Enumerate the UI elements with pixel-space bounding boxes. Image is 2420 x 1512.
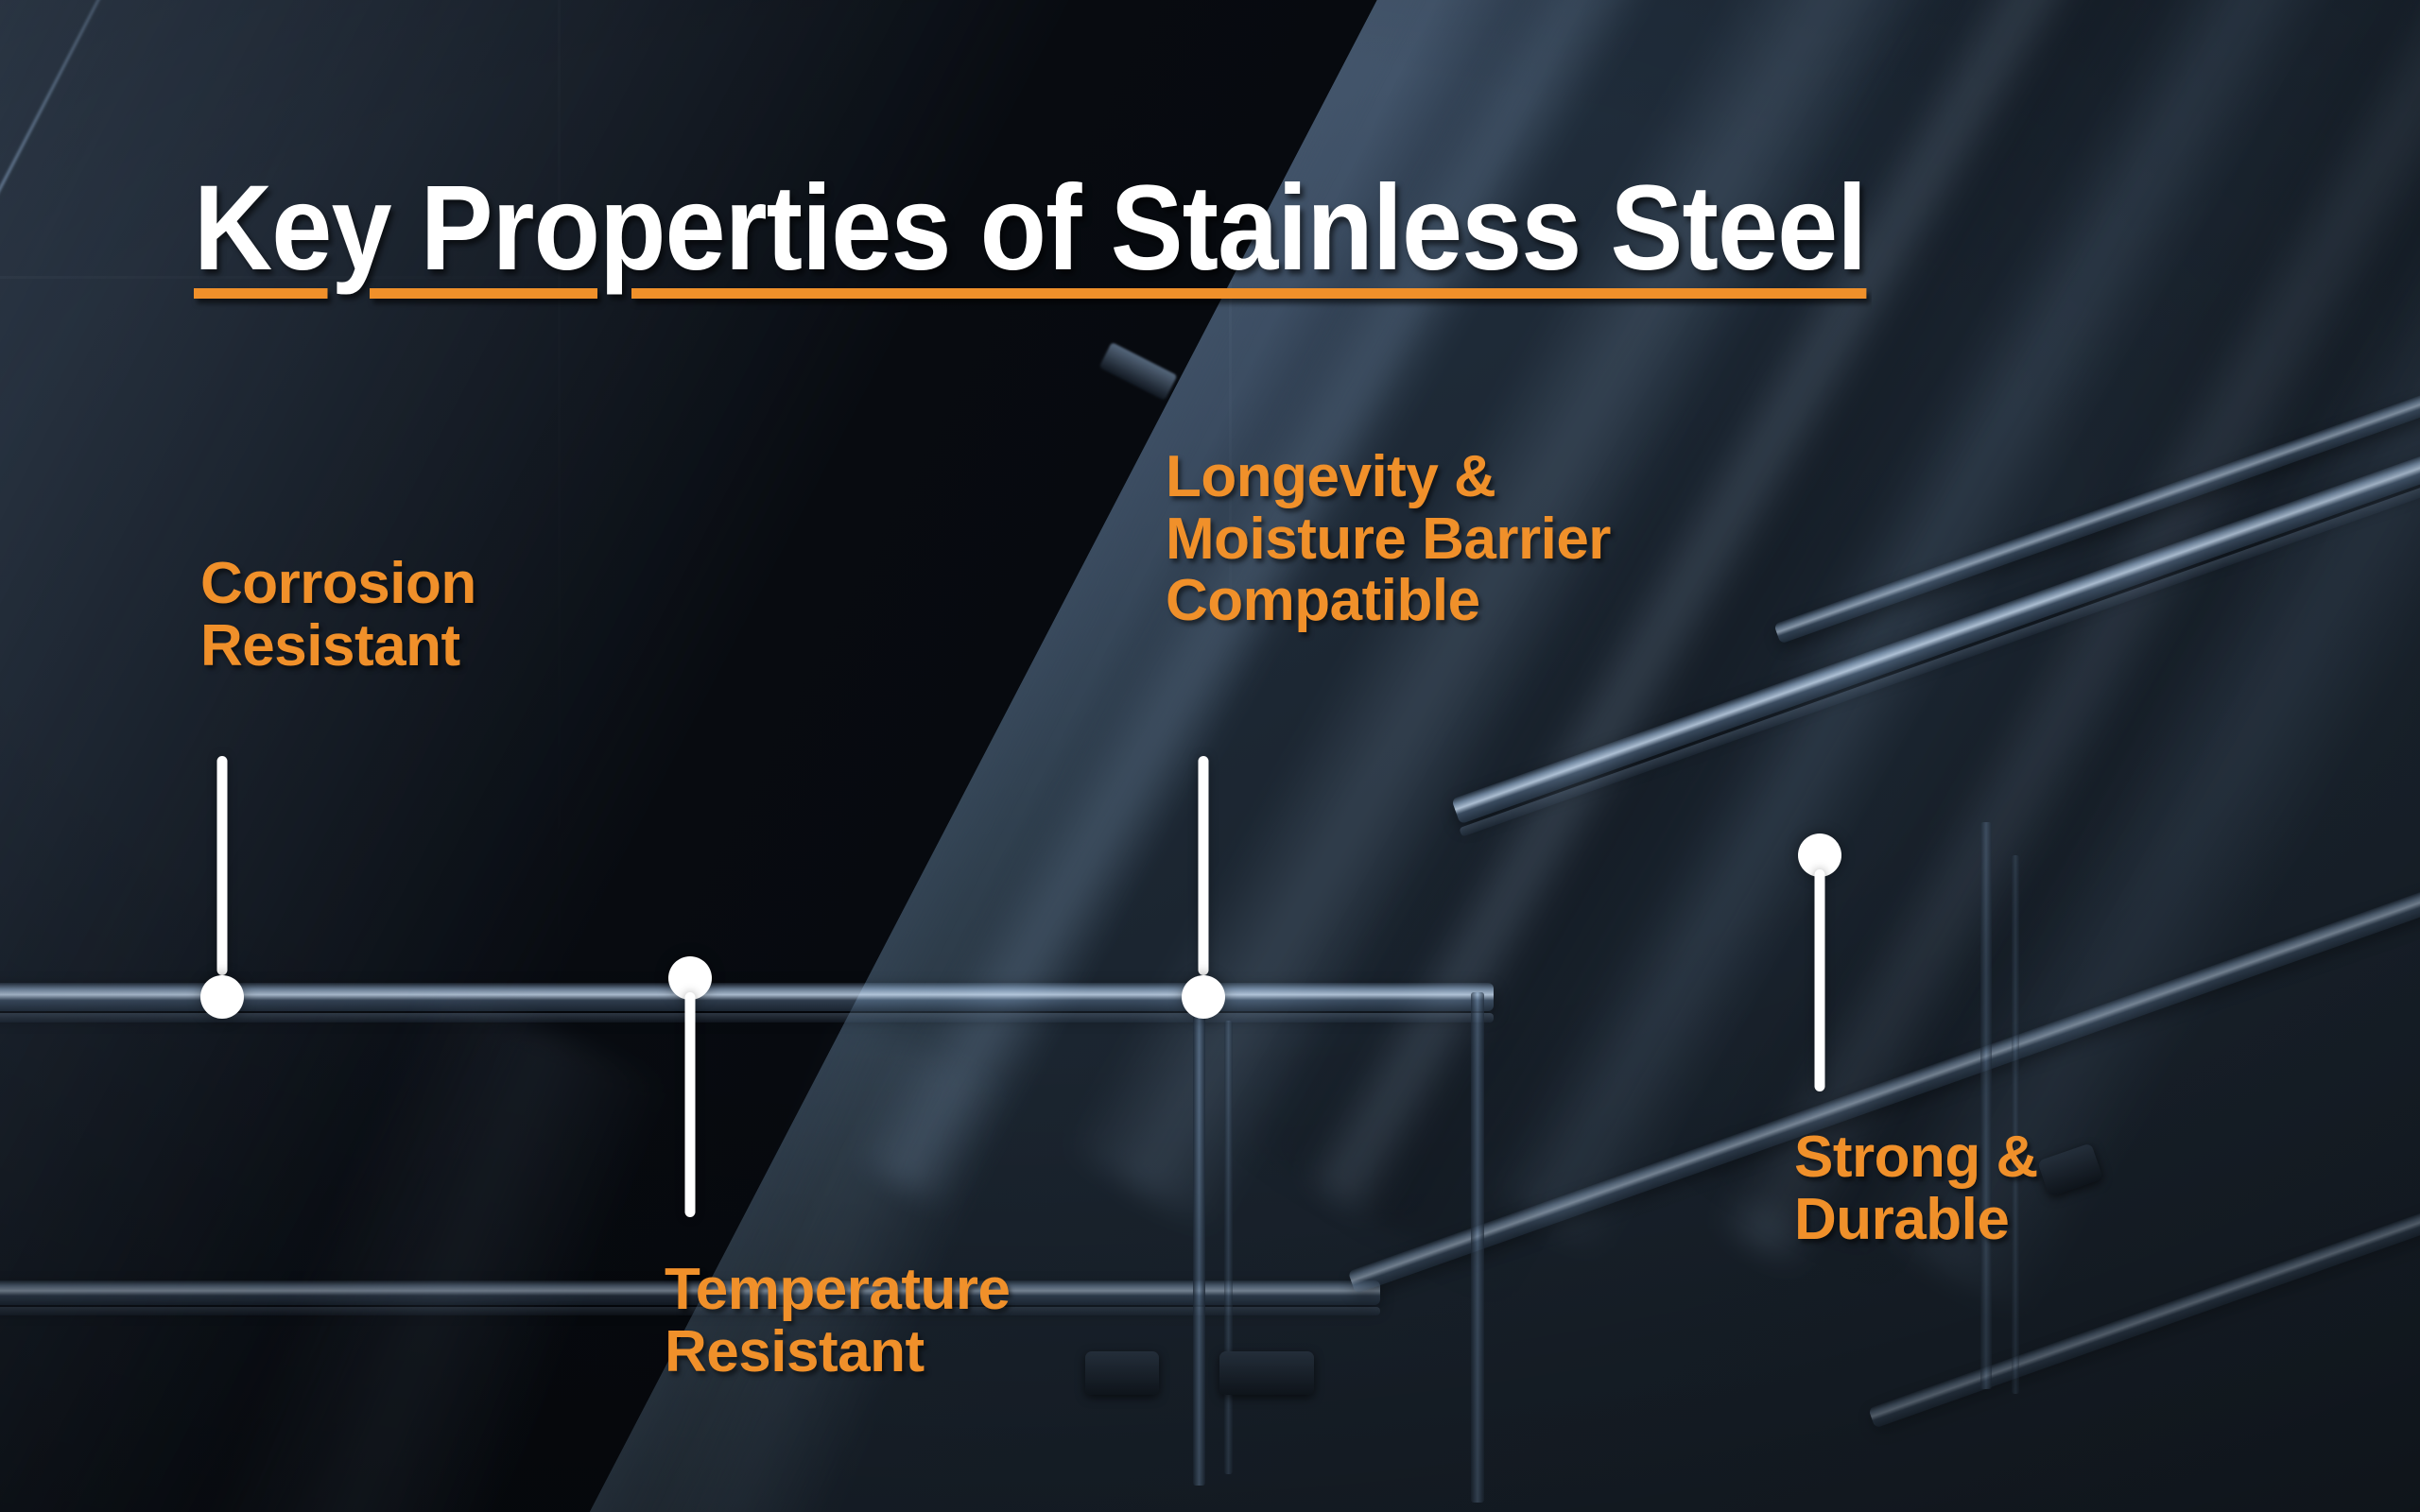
marker-stem (1815, 869, 1825, 1091)
marker-dot (200, 975, 244, 1019)
marker-stem (685, 992, 696, 1217)
callout-label-corrosion-resistant: Corrosion Resistant (200, 553, 476, 677)
marker-dot (1182, 975, 1225, 1019)
callout-label-strong-durable: Strong & Durable (1794, 1126, 2038, 1250)
infographic-canvas: Key Properties of Stainless Steel Corros… (0, 0, 2420, 1512)
page-title: Key Properties of Stainless Steel (194, 168, 1866, 289)
marker-stem (1199, 756, 1209, 975)
callout-label-longevity-moisture-barrier-compatible: Longevity & Moisture Barrier Compatible (1166, 446, 1611, 632)
callout-label-temperature-resistant: Temperature Resistant (665, 1259, 1010, 1383)
marker-stem (217, 756, 228, 975)
